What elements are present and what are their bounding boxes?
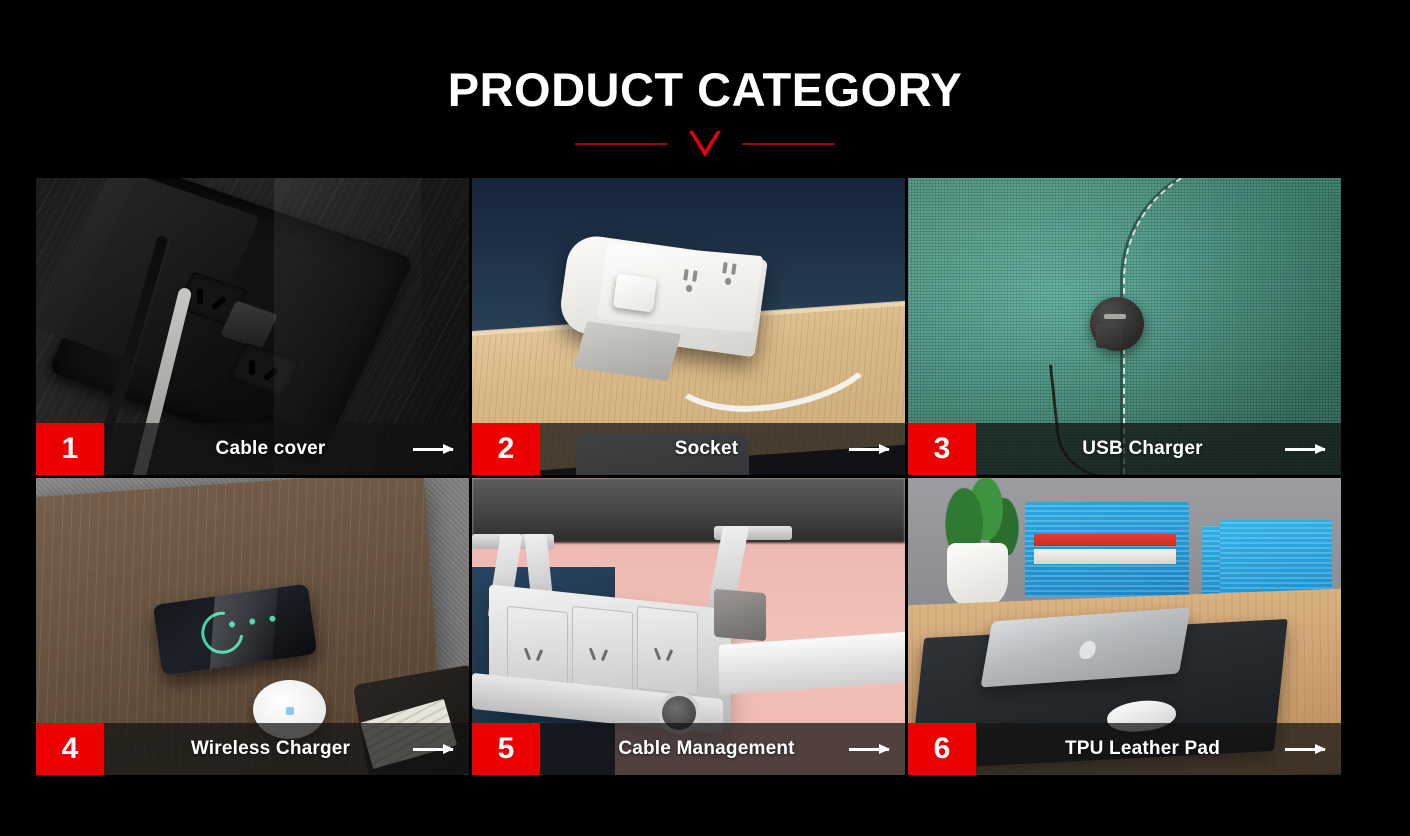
- divider-gap-right: [723, 143, 742, 145]
- divider-line-left: [575, 143, 668, 145]
- category-label: TPU Leather Pad: [976, 723, 1269, 775]
- product-category-page: PRODUCT CATEGORY: [0, 0, 1410, 836]
- page-title: PRODUCT CATEGORY: [0, 62, 1410, 118]
- divider-line-right: [742, 143, 835, 145]
- arrow-right-icon[interactable]: [397, 423, 469, 475]
- category-label-bar[interactable]: 3 USB Charger: [908, 423, 1341, 475]
- arrow-right-icon[interactable]: [1269, 723, 1341, 775]
- title-divider: [0, 131, 1410, 157]
- category-number-badge: 2: [472, 423, 540, 475]
- category-card-cable-cover[interactable]: 1 Cable cover: [36, 178, 469, 475]
- arrow-right-icon[interactable]: [397, 723, 469, 775]
- category-number-badge: 4: [36, 723, 104, 775]
- category-card-usb-charger[interactable]: 3 USB Charger: [908, 178, 1341, 475]
- category-label: Cable cover: [104, 423, 397, 475]
- arrow-right-icon[interactable]: [1269, 423, 1341, 475]
- category-label-bar[interactable]: 4 Wireless Charger: [36, 723, 469, 775]
- product-category-grid: 1 Cable cover: [36, 178, 1341, 775]
- arrow-right-icon[interactable]: [833, 723, 905, 775]
- page-header: PRODUCT CATEGORY: [0, 62, 1410, 157]
- category-number-badge: 3: [908, 423, 976, 475]
- category-label-bar[interactable]: 1 Cable cover: [36, 423, 469, 475]
- category-number-badge: 5: [472, 723, 540, 775]
- divider-gap-left: [668, 143, 687, 145]
- category-label-bar[interactable]: 2 Socket: [472, 423, 905, 475]
- category-number-badge: 6: [908, 723, 976, 775]
- category-card-tpu-leather-pad[interactable]: 6 TPU Leather Pad: [908, 478, 1341, 775]
- category-label-bar[interactable]: 5 Cable Management: [472, 723, 905, 775]
- down-triangle-icon: [689, 131, 721, 157]
- category-label: Socket: [540, 423, 833, 475]
- category-card-wireless-charger[interactable]: 4 Wireless Charger: [36, 478, 469, 775]
- category-label-bar[interactable]: 6 TPU Leather Pad: [908, 723, 1341, 775]
- arrow-right-icon[interactable]: [833, 423, 905, 475]
- category-label: USB Charger: [976, 423, 1269, 475]
- category-label: Wireless Charger: [104, 723, 397, 775]
- category-number-badge: 1: [36, 423, 104, 475]
- category-label: Cable Management: [540, 723, 833, 775]
- category-card-socket[interactable]: 2 Socket: [472, 178, 905, 475]
- category-card-cable-management[interactable]: 5 Cable Management: [472, 478, 905, 775]
